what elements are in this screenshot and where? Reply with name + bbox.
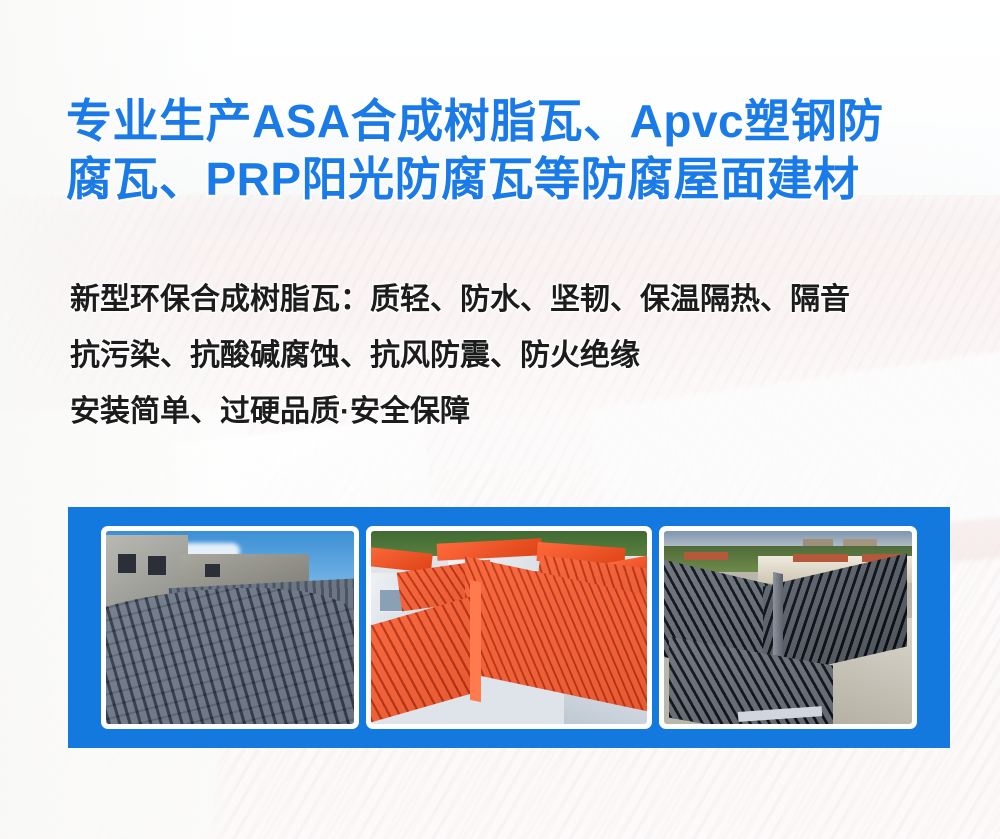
feature-copy: 新型环保合成树脂瓦：质轻、防水、坚韧、保温隔热、隔音 抗污染、抗酸碱腐蚀、抗风防… — [70, 272, 970, 440]
gallery-thumb-black-roof-image — [664, 531, 912, 724]
gallery-thumb-red-roof-image — [371, 531, 647, 724]
headline: 专业生产ASA合成树脂瓦、Apvc塑钢防 腐瓦、PRP阳光防腐瓦等防腐屋面建材 — [66, 92, 946, 208]
gallery-panel — [68, 507, 950, 748]
gallery-thumb-red-roof[interactable] — [366, 526, 652, 729]
gallery-thumb-grey-roof-image — [106, 531, 354, 724]
product-banner: 专业生产ASA合成树脂瓦、Apvc塑钢防 腐瓦、PRP阳光防腐瓦等防腐屋面建材 … — [0, 0, 1000, 839]
gallery-thumb-black-roof[interactable] — [659, 526, 917, 729]
gallery-thumb-grey-roof[interactable] — [101, 526, 359, 729]
